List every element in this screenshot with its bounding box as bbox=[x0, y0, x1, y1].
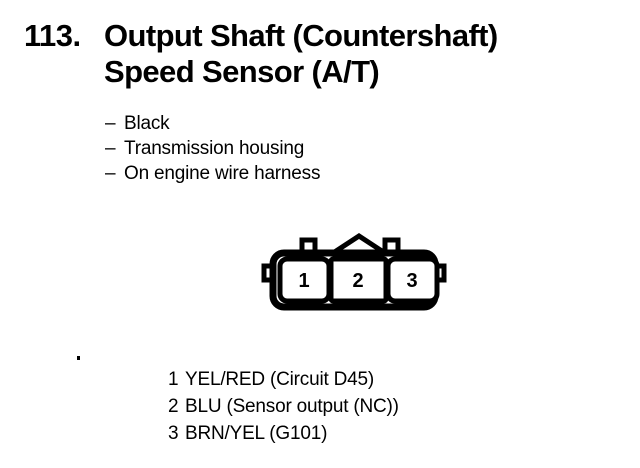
scan-artifact-speck bbox=[77, 356, 80, 360]
pin-legend-number-3: 3 bbox=[168, 420, 185, 447]
page-canvas: 113. Output Shaft (Countershaft) Speed S… bbox=[0, 0, 640, 468]
pin-legend-number-1: 1 bbox=[168, 366, 185, 393]
connector-diagram: 1 2 3 bbox=[258, 230, 458, 315]
title-row: 113. Output Shaft (Countershaft) Speed S… bbox=[24, 18, 624, 90]
attribute-item-color: – Black bbox=[105, 111, 320, 136]
page-title: 113. Output Shaft (Countershaft) Speed S… bbox=[24, 18, 624, 90]
attribute-label-location: Transmission housing bbox=[124, 136, 304, 161]
title-line-2: Speed Sensor (A/T) bbox=[104, 54, 498, 90]
pin-legend-text-2: BLU (Sensor output (NC)) bbox=[185, 393, 399, 420]
attribute-list: – Black – Transmission housing – On engi… bbox=[105, 111, 320, 186]
connector-pin-label-2: 2 bbox=[352, 270, 363, 292]
pin-legend-text-3: BRN/YEL (G101) bbox=[185, 420, 327, 447]
attribute-item-harness: – On engine wire harness bbox=[105, 161, 320, 186]
dash-bullet-icon: – bbox=[105, 161, 124, 186]
pin-legend-text-1: YEL/RED (Circuit D45) bbox=[185, 366, 374, 393]
dash-bullet-icon: – bbox=[105, 111, 124, 136]
attribute-label-harness: On engine wire harness bbox=[124, 161, 320, 186]
pin-legend-row-1: 1 YEL/RED (Circuit D45) bbox=[168, 366, 399, 393]
pin-legend: 1 YEL/RED (Circuit D45) 2 BLU (Sensor ou… bbox=[168, 366, 399, 447]
dash-bullet-icon: – bbox=[105, 136, 124, 161]
entry-number: 113. bbox=[24, 18, 104, 54]
attribute-label-color: Black bbox=[124, 111, 169, 136]
pin-legend-number-2: 2 bbox=[168, 393, 185, 420]
connector-pin-label-1: 1 bbox=[298, 270, 309, 292]
title-line-1: Output Shaft (Countershaft) bbox=[104, 18, 498, 54]
connector-illustration: 1 2 3 bbox=[258, 230, 458, 315]
connector-pin-label-3: 3 bbox=[406, 270, 417, 292]
pin-legend-row-2: 2 BLU (Sensor output (NC)) bbox=[168, 393, 399, 420]
attribute-item-location: – Transmission housing bbox=[105, 136, 320, 161]
pin-legend-row-3: 3 BRN/YEL (G101) bbox=[168, 420, 399, 447]
title-text: Output Shaft (Countershaft) Speed Sensor… bbox=[104, 18, 498, 90]
